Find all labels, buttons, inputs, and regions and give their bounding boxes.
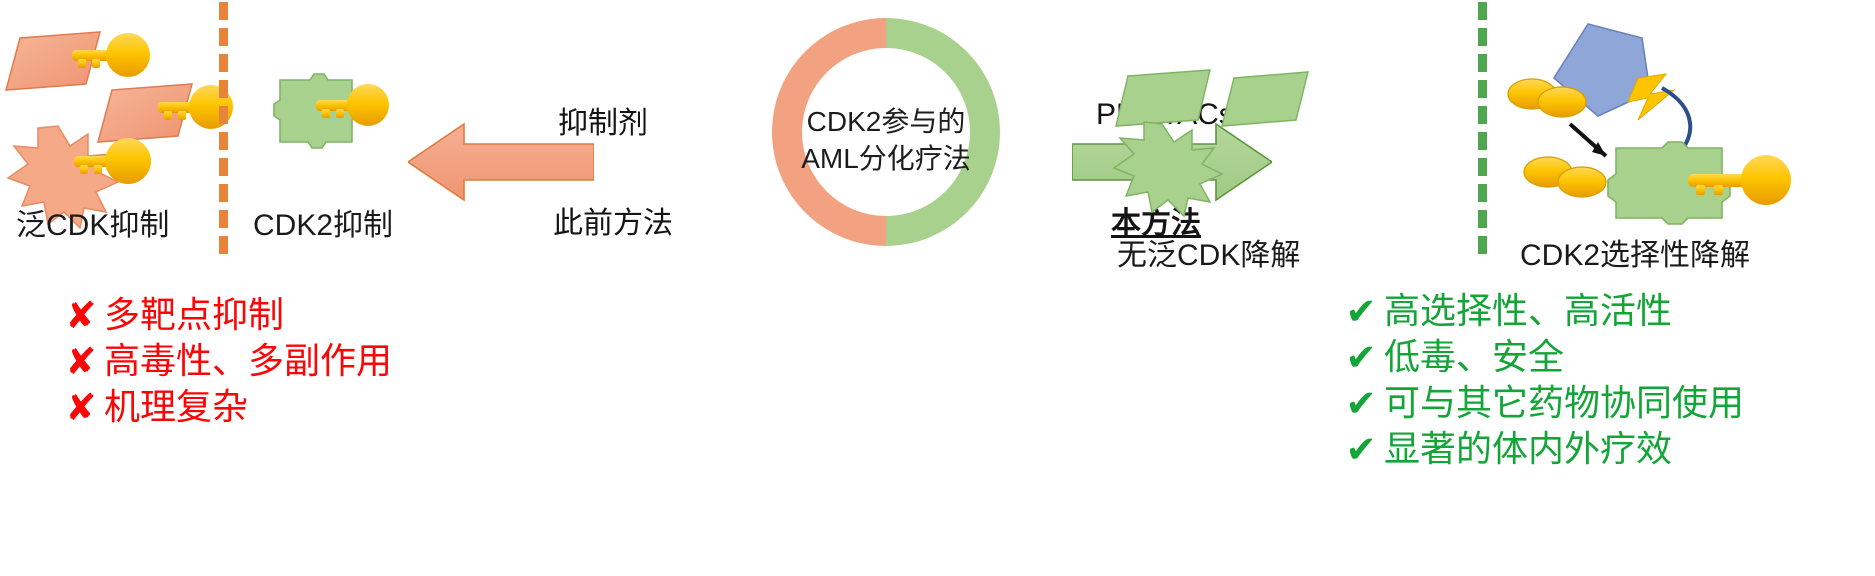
- cons-list-item: ✘ 多靶点抑制: [58, 296, 392, 335]
- check-icon: ✔: [1338, 339, 1384, 376]
- cross-icon: ✘: [58, 343, 104, 380]
- cons-list-item: ✘ 机理复杂: [58, 388, 392, 427]
- divider-right-dashed: [1478, 2, 1487, 254]
- center-ring-text-line1: CDK2参与的: [760, 104, 1012, 141]
- pros-list-item-label: 低毒、安全: [1384, 338, 1564, 377]
- center-ring-text: CDK2参与的 AML分化疗法: [760, 104, 1012, 178]
- cdk2-inhibition-illustration: [268, 72, 388, 154]
- check-icon: ✔: [1338, 431, 1384, 468]
- pros-list: ✔ 高选择性、高活性 ✔ 低毒、安全 ✔ 可与其它药物协同使用 ✔ 显著的体内外…: [1338, 292, 1744, 476]
- graphical-abstract: 泛CDK抑制 CDK2抑制 抑制剂 此前方法: [0, 0, 1875, 576]
- cross-icon: ✘: [58, 389, 104, 426]
- divider-left-dashed: [219, 2, 228, 254]
- pros-list-item-label: 可与其它药物协同使用: [1384, 384, 1744, 423]
- no-pan-cdk-degradation-illustration: [1118, 58, 1318, 198]
- pros-list-item: ✔ 显著的体内外疗效: [1338, 430, 1744, 469]
- caption-cdk2-inhibition: CDK2抑制: [253, 200, 393, 244]
- cons-list-item-label: 机理复杂: [104, 388, 248, 427]
- pros-list-item-label: 显著的体内外疗效: [1384, 430, 1672, 469]
- caption-pan-cdk-inhibition: 泛CDK抑制: [16, 200, 169, 244]
- pros-list-item: ✔ 高选择性、高活性: [1338, 292, 1744, 331]
- center-ring-text-line2: AML分化疗法: [760, 141, 1012, 178]
- pros-list-item-label: 高选择性、高活性: [1384, 292, 1672, 331]
- cons-list-item-label: 高毒性、多副作用: [104, 342, 392, 381]
- caption-cdk2-selective-degradation: CDK2选择性降解: [1520, 230, 1750, 274]
- pros-list-item: ✔ 可与其它药物协同使用: [1338, 384, 1744, 423]
- cdk2-selective-degradation-illustration: [1510, 16, 1840, 226]
- cross-icon: ✘: [58, 297, 104, 334]
- cons-list: ✘ 多靶点抑制 ✘ 高毒性、多副作用 ✘ 机理复杂: [58, 296, 392, 434]
- cons-list-item-label: 多靶点抑制: [104, 296, 284, 335]
- caption-no-pan-cdk-degradation: 无泛CDK降解: [1117, 230, 1300, 274]
- check-icon: ✔: [1338, 293, 1384, 330]
- left-arrow-label-top: 抑制剂: [558, 98, 648, 142]
- check-icon: ✔: [1338, 385, 1384, 422]
- pros-list-item: ✔ 低毒、安全: [1338, 338, 1744, 377]
- cons-list-item: ✘ 高毒性、多副作用: [58, 342, 392, 381]
- left-arrow-label-bottom: 此前方法: [553, 198, 673, 242]
